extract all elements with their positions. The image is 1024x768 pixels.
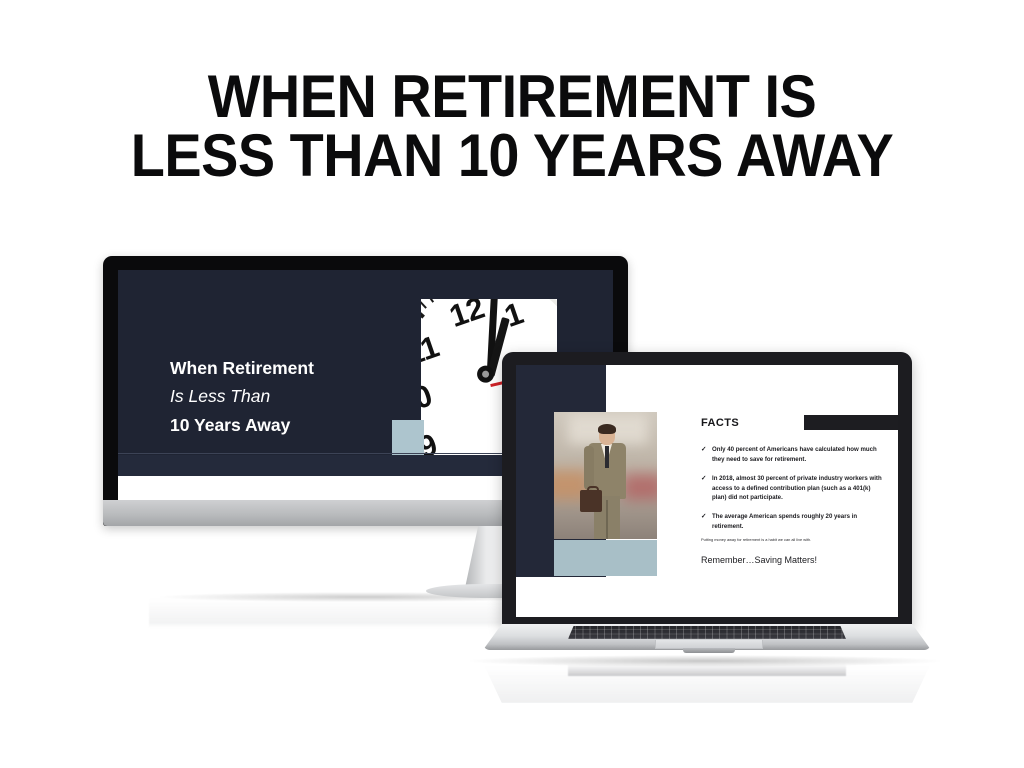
check-icon: ✓ bbox=[701, 512, 706, 523]
businessman-arm bbox=[584, 446, 594, 490]
laptop-keyboard[interactable] bbox=[568, 626, 846, 639]
list-item: ✓ Only 40 percent of Americans have calc… bbox=[701, 445, 885, 465]
list-item: ✓ In 2018, almost 30 percent of private … bbox=[701, 474, 885, 504]
clock-number-12: 12 bbox=[446, 299, 489, 332]
businessman-photo bbox=[554, 412, 657, 539]
monitor-slide-title-line-2: Is Less Than bbox=[170, 382, 314, 410]
laptop-screen[interactable]: FACTS ✓ Only 40 percent of Americans hav… bbox=[516, 365, 898, 617]
keyboard-key-texture bbox=[568, 626, 846, 639]
page-title-line-2: LESS THAN 10 YEARS AWAY bbox=[36, 127, 988, 186]
laptop-lid: FACTS ✓ Only 40 percent of Americans hav… bbox=[502, 352, 912, 627]
page-title: WHEN RETIREMENT IS LESS THAN 10 YEARS AW… bbox=[36, 68, 988, 186]
laptop-computer[interactable]: FACTS ✓ Only 40 percent of Americans hav… bbox=[483, 352, 931, 662]
list-item-label: The average American spends roughly 20 y… bbox=[712, 513, 857, 530]
slide-note-text: Putting money away for retirement is a h… bbox=[701, 537, 887, 543]
monitor-slide-title: When Retirement Is Less Than 10 Years Aw… bbox=[170, 354, 314, 439]
slide-closing-text: Remember…Saving Matters! bbox=[701, 555, 817, 565]
businessman-necktie bbox=[605, 446, 609, 468]
monitor-slide-title-line-3: 10 Years Away bbox=[170, 411, 314, 439]
businessman-figure bbox=[582, 426, 632, 539]
laptop-front-lip bbox=[683, 648, 735, 653]
page-title-line-1: WHEN RETIREMENT IS bbox=[208, 63, 817, 130]
facts-accent-bar bbox=[804, 415, 898, 430]
businessman-trouser-seam bbox=[606, 500, 608, 539]
facts-list: ✓ Only 40 percent of Americans have calc… bbox=[701, 445, 885, 541]
monitor-slide-title-line-1: When Retirement bbox=[170, 354, 314, 382]
list-item: ✓ The average American spends roughly 20… bbox=[701, 512, 885, 532]
check-icon: ✓ bbox=[701, 445, 706, 456]
businessman-hair bbox=[598, 424, 616, 434]
presentation-mockup-stage: WHEN RETIREMENT IS LESS THAN 10 YEARS AW… bbox=[0, 0, 1024, 768]
list-item-label: In 2018, almost 30 percent of private in… bbox=[712, 475, 882, 502]
laptop-reflection bbox=[483, 663, 931, 703]
facts-heading: FACTS bbox=[701, 417, 739, 429]
list-item-label: Only 40 percent of Americans have calcul… bbox=[712, 446, 877, 463]
accent-rectangle-shape bbox=[554, 540, 657, 576]
check-icon: ✓ bbox=[701, 474, 706, 485]
clock-number-11: 11 bbox=[421, 330, 443, 370]
briefcase-icon bbox=[580, 490, 602, 512]
clock-number-10: 10 bbox=[421, 379, 436, 420]
